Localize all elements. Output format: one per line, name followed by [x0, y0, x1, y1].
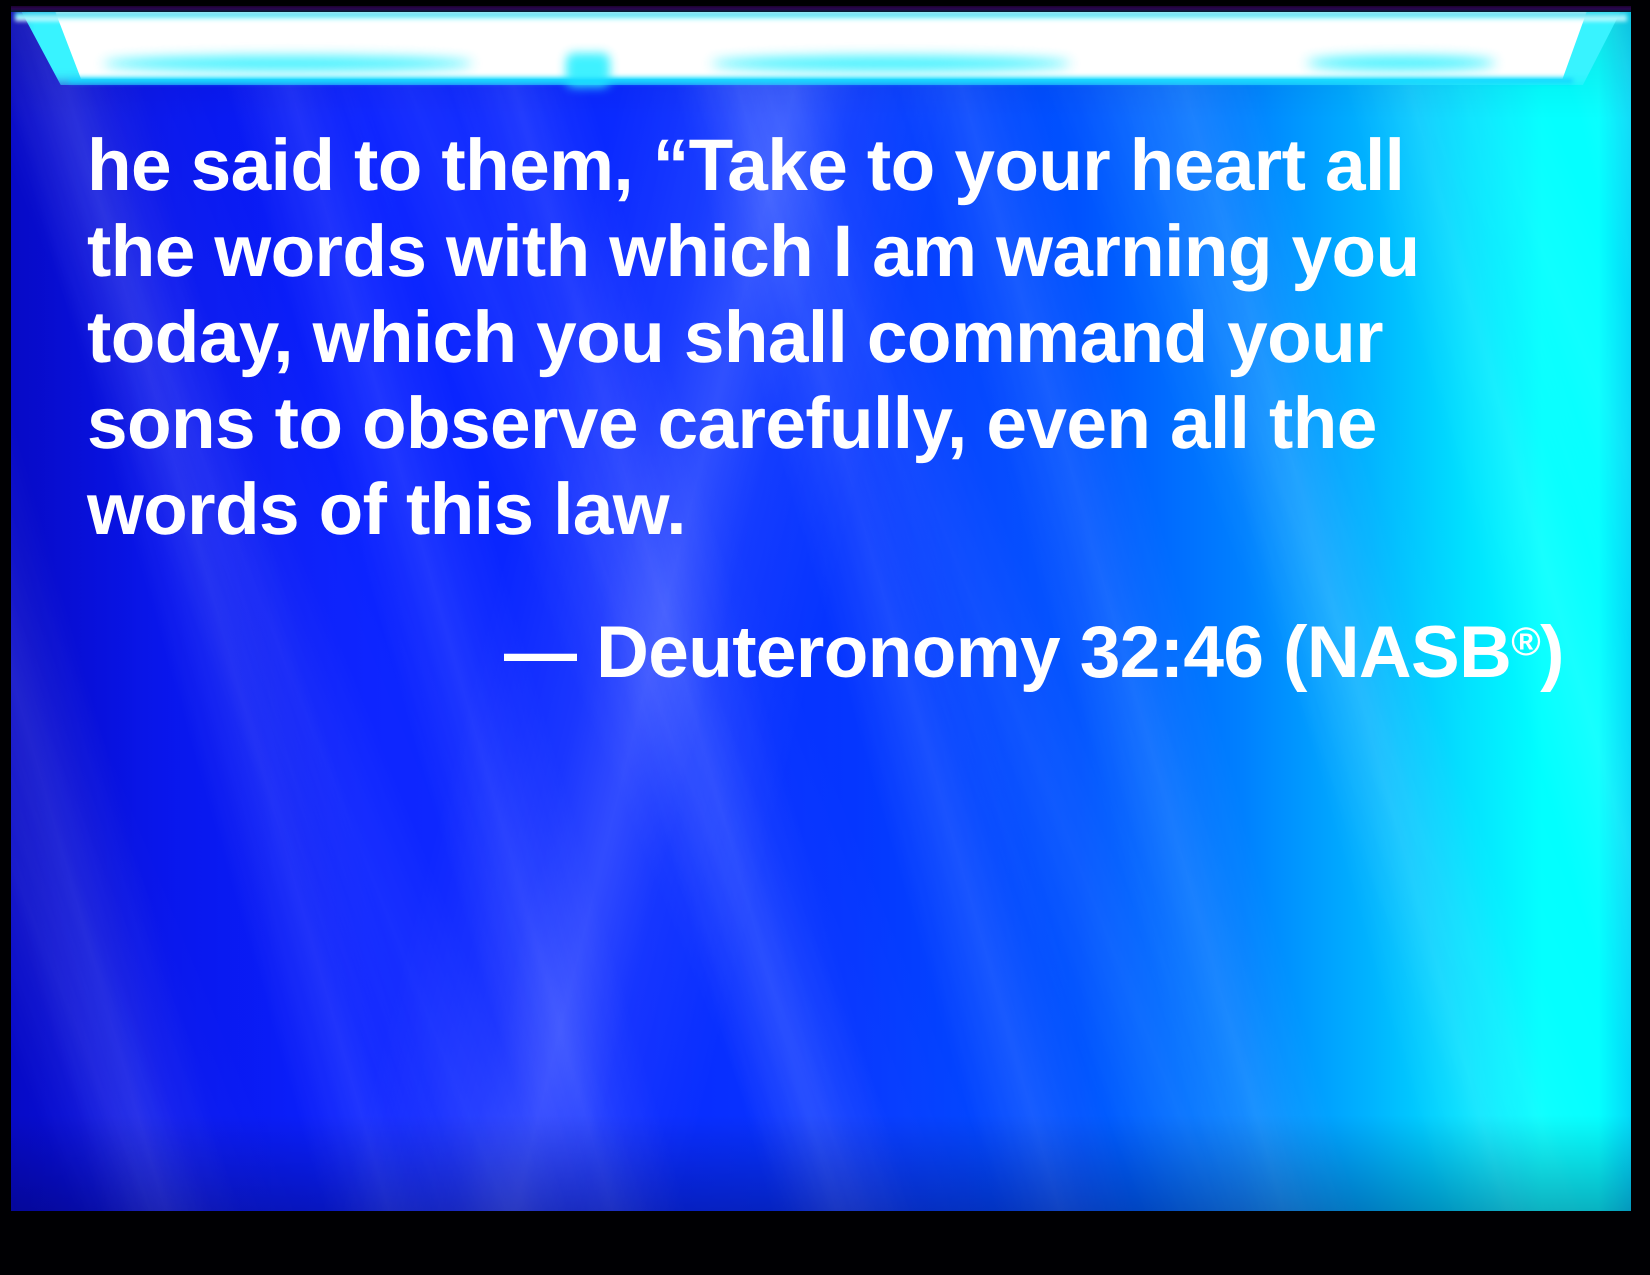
registered-trademark-icon: ®	[1511, 620, 1540, 664]
attribution-translation: (NASB	[1283, 612, 1511, 693]
frame-edge-left	[0, 0, 11, 1275]
slide-frame: he said to them, “Take to your heart all…	[0, 0, 1650, 1275]
slide-canvas: he said to them, “Take to your heart all…	[11, 11, 1631, 1211]
verse-line-1: he said to them, “Take to your heart all	[87, 123, 1587, 209]
verse-line-5: words of this law.	[87, 467, 1587, 553]
frame-edge-bottom	[0, 1211, 1650, 1275]
frame-edge-sheen	[11, 6, 1631, 12]
attribution-reference: 32:46	[1080, 612, 1264, 693]
verse-text-block: he said to them, “Take to your heart all…	[87, 123, 1587, 696]
attribution-em-dash: —	[504, 612, 576, 693]
attribution-book: Deuteronomy	[596, 612, 1060, 693]
verse-line-4: sons to observe carefully, even all the	[87, 381, 1587, 467]
verse-line-3: today, which you shall command your	[87, 295, 1587, 381]
verse-line-2: the words with which I am warning you	[87, 209, 1587, 295]
attribution-paren-close: )	[1540, 612, 1564, 693]
frame-edge-right	[1631, 0, 1650, 1275]
verse-attribution: — Deuteronomy 32:46 (NASB®)	[87, 599, 1587, 696]
